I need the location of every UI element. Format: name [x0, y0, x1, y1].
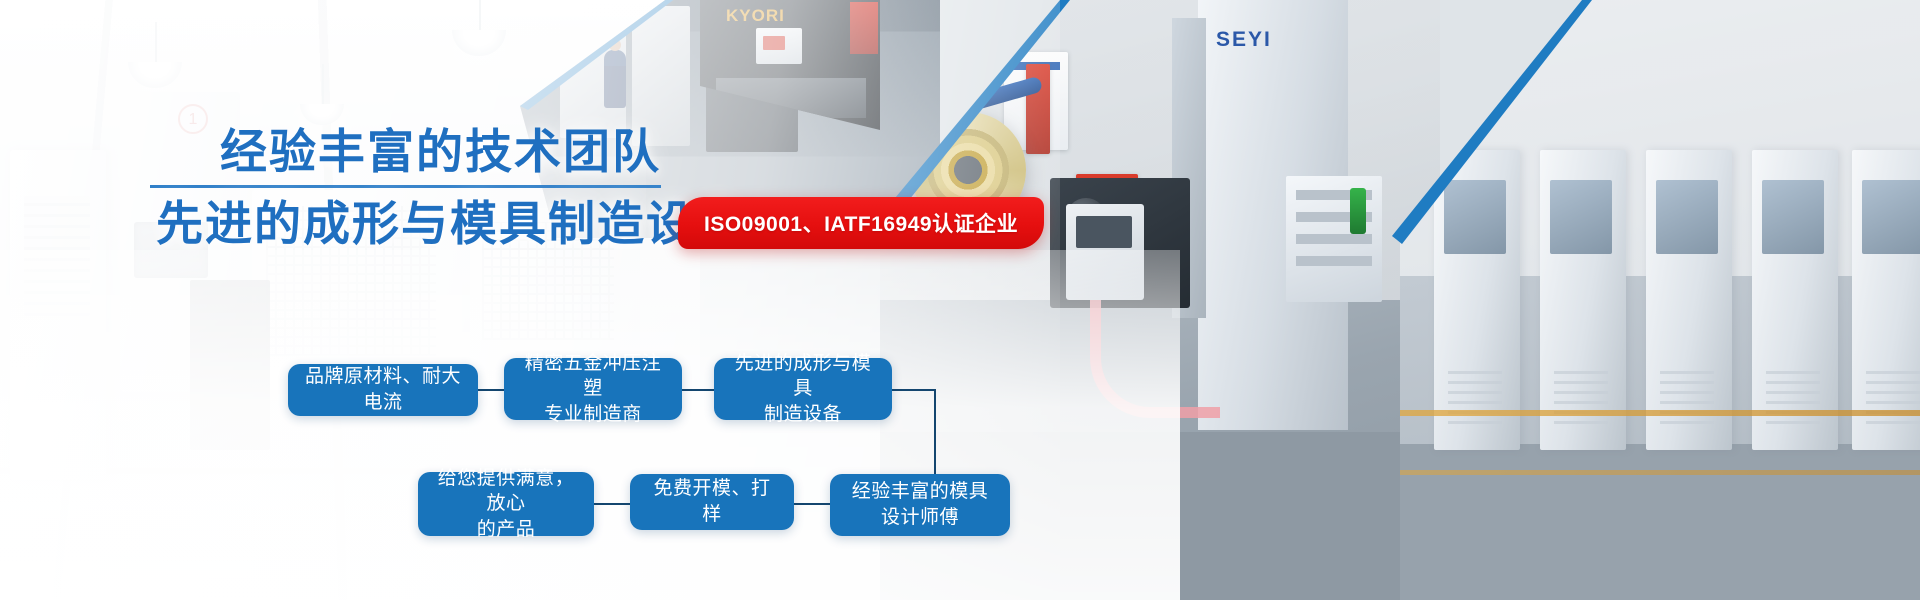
process-box-brand-material[interactable]: 品牌原材料、耐大电流 [288, 364, 478, 416]
line-machine [1852, 150, 1920, 450]
line-machine [1752, 150, 1838, 450]
line-machine [1646, 150, 1732, 450]
process-flow-diagram: 品牌原材料、耐大电流 精密五金冲压注塑 专业制造商 先进的成形与模具 制造设备 … [0, 0, 1100, 600]
process-box-line2: 设计师傅 [852, 505, 989, 531]
process-box-line1: 给您提供满意，放心 [432, 466, 580, 517]
process-box-line1: 精密五金冲压注塑 [518, 351, 668, 402]
line-machine [1540, 150, 1626, 450]
machine-brand-label: SEYI [1216, 28, 1272, 52]
process-box-line2: 专业制造商 [518, 402, 668, 428]
certification-badge: ISO09001、IATF16949认证企业 [678, 197, 1044, 249]
process-box-line2: 制造设备 [728, 402, 878, 428]
certification-badge-label: ISO09001、IATF16949认证企业 [704, 208, 1018, 238]
electrical-cabinet [1286, 176, 1382, 302]
connector-line [794, 503, 830, 505]
pink-hose [1090, 300, 1220, 418]
process-box-line2: 的产品 [432, 517, 580, 543]
process-box-line1: 先进的成形与模具 [728, 351, 878, 402]
connector-line [892, 389, 936, 391]
process-box-line1: 品牌原材料、耐大电流 [302, 364, 464, 415]
process-box-satisfied-product[interactable]: 给您提供满意，放心 的产品 [418, 472, 594, 536]
status-light [1350, 188, 1366, 234]
process-box-mold-designer[interactable]: 经验丰富的模具 设计师傅 [830, 474, 1010, 536]
process-box-precision-maker[interactable]: 精密五金冲压注塑 专业制造商 [504, 358, 682, 420]
safety-railing [1400, 470, 1920, 475]
connector-line [682, 389, 714, 391]
process-box-line1: 经验丰富的模具 [852, 479, 989, 505]
factory-capability-banner: 1 SEYI [0, 0, 1920, 600]
safety-railing [1400, 410, 1920, 416]
line-machine [1434, 150, 1520, 450]
connector-line [478, 389, 504, 391]
process-box-advanced-equip[interactable]: 先进的成形与模具 制造设备 [714, 358, 892, 420]
process-box-line1: 免费开模、打样 [644, 476, 780, 527]
connector-line [594, 503, 630, 505]
process-box-free-mold[interactable]: 免费开模、打样 [630, 474, 794, 530]
photo-assembly-line [1400, 0, 1920, 600]
